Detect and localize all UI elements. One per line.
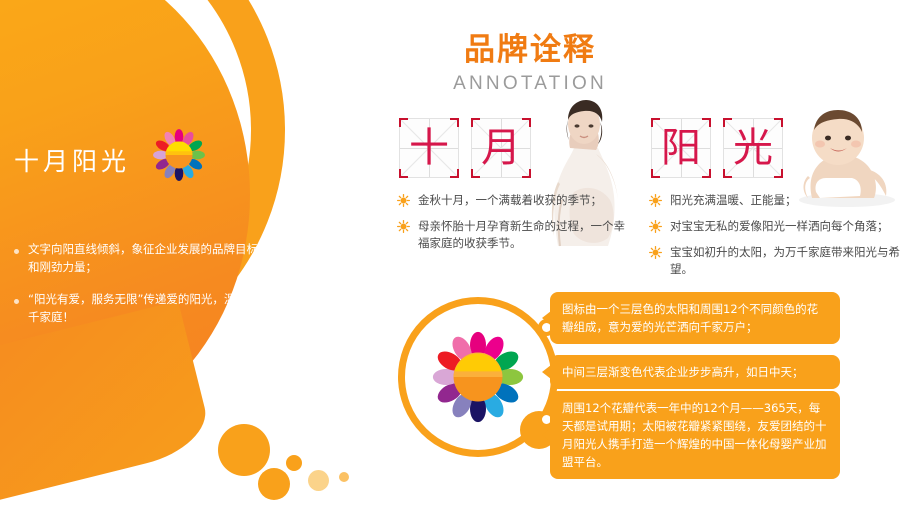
brand-bullet-text: 文字向阳直线倾斜，象征企业发展的品牌目标和刚劲力量； (28, 240, 266, 276)
page-title-en: ANNOTATION (420, 73, 640, 95)
sun-bullet-icon (397, 194, 410, 207)
logo-diagram: 图标由一个三层色的太阳和周围12个不同颜色的花瓣组成，意为爱的光芒洒向千家万户；… (390, 283, 907, 483)
callout-box: 周围12个花瓣代表一年中的12个月——365天，每天都是试用期；太阳被花瓣紧紧围… (550, 391, 840, 479)
decorative-bubble (258, 468, 290, 500)
callout-text: 周围12个花瓣代表一年中的12个月——365天，每天都是试用期；太阳被花瓣紧紧围… (562, 401, 827, 469)
annotation-text: 母亲怀胎十月孕育新生命的过程，一个幸福家庭的收获季节。 (418, 218, 632, 252)
brand-bullet-list: 文字向阳直线倾斜，象征企业发展的品牌目标和刚劲力量； “阳光有爱，服务无限”传递… (14, 240, 266, 340)
list-item: 文字向阳直线倾斜，象征企业发展的品牌目标和刚劲力量； (14, 240, 266, 276)
glyph-char: 阳 (652, 119, 710, 177)
annotation-text: 宝宝如初升的太阳，为万千家庭带来阳光与希望。 (670, 244, 907, 278)
sun-bullet-icon (649, 220, 662, 233)
callout-text: 图标由一个三层色的太阳和周围12个不同颜色的花瓣组成，意为爱的光芒洒向千家万户； (562, 302, 818, 334)
list-item: 宝宝如初升的太阳，为万千家庭带来阳光与希望。 (649, 244, 907, 278)
list-item: “阳光有爱，服务无限”传递爱的阳光，温暖万千家庭！ (14, 290, 266, 326)
annotation-list-left: 金秋十月，一个满载着收获的季节； 母亲怀胎十月孕育新生命的过程，一个幸福家庭的收… (397, 192, 632, 261)
glyph-char: 月 (472, 119, 530, 177)
decorative-bubble (218, 424, 270, 476)
annotation-text: 金秋十月，一个满载着收获的季节； (418, 192, 602, 209)
callout-box: 中间三层渐变色代表企业步步高升，如日中天； (550, 355, 840, 389)
decorative-bubble (308, 470, 329, 491)
slide-canvas: 十月阳光 (0, 0, 907, 509)
brand-bullet-text: “阳光有爱，服务无限”传递爱的阳光，温暖万千家庭！ (28, 290, 266, 326)
decorative-bubble (339, 472, 349, 482)
annotation-text: 对宝宝无私的爱像阳光一样洒向每个角落； (670, 218, 889, 235)
brand-name: 十月阳光 (14, 142, 254, 178)
annotation-list-right: 阳光充满温暖、正能量； 对宝宝无私的爱像阳光一样洒向每个角落； (649, 192, 907, 287)
glyph-cell: 十 (399, 118, 459, 178)
decorative-bubble (286, 455, 302, 471)
sun-bullet-icon (649, 194, 662, 207)
annotation-text: 阳光充满温暖、正能量； (670, 192, 797, 209)
callout-text: 中间三层渐变色代表企业步步高升，如日中天； (562, 365, 804, 379)
glyph-cell: 光 (723, 118, 783, 178)
list-item: 对宝宝无私的爱像阳光一样洒向每个角落； (649, 218, 907, 235)
flower-sun-logo-icon (431, 330, 525, 424)
glyph-char: 十 (400, 119, 458, 177)
callout-box: 图标由一个三层色的太阳和周围12个不同颜色的花瓣组成，意为爱的光芒洒向千家万户； (550, 292, 840, 344)
bullet-dot-icon (14, 249, 19, 254)
flower-sun-logo-icon (152, 128, 206, 182)
sun-bullet-icon (397, 220, 410, 233)
brand-block: 十月阳光 (14, 142, 254, 178)
glyph-char: 光 (724, 119, 782, 177)
sun-bullet-icon (649, 246, 662, 259)
glyph-cell: 月 (471, 118, 531, 178)
page-title-cn: 品牌诠释 (420, 24, 640, 69)
list-item: 金秋十月，一个满载着收获的季节； (397, 192, 632, 209)
glyph-cell: 阳 (651, 118, 711, 178)
list-item: 阳光充满温暖、正能量； (649, 192, 907, 209)
list-item: 母亲怀胎十月孕育新生命的过程，一个幸福家庭的收获季节。 (397, 218, 632, 252)
page-title: 品牌诠释 ANNOTATION (420, 24, 640, 95)
bullet-dot-icon (14, 299, 19, 304)
